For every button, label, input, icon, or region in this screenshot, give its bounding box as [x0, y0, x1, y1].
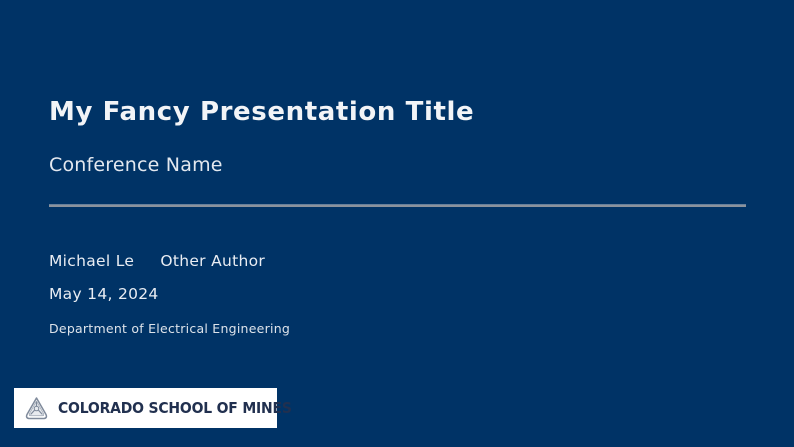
slide-subtitle: Conference Name: [49, 128, 749, 176]
author-names: Michael Le Other Author: [49, 252, 749, 270]
logo-text: COLORADO SCHOOL OF MINES: [58, 399, 292, 417]
author-meta-block: Michael Le Other Author May 14, 2024 Dep…: [49, 252, 749, 336]
mines-triangle-seal-icon: [24, 396, 49, 421]
title-divider-rule: [49, 205, 746, 207]
title-slide: My Fancy Presentation Title Conference N…: [0, 0, 794, 447]
presentation-date: May 14, 2024: [49, 270, 749, 303]
institution-logo: COLORADO SCHOOL OF MINES: [14, 388, 277, 428]
institute-name: Department of Electrical Engineering: [49, 303, 749, 336]
page-title: My Fancy Presentation Title: [49, 98, 749, 128]
title-block: My Fancy Presentation Title Conference N…: [49, 98, 749, 176]
